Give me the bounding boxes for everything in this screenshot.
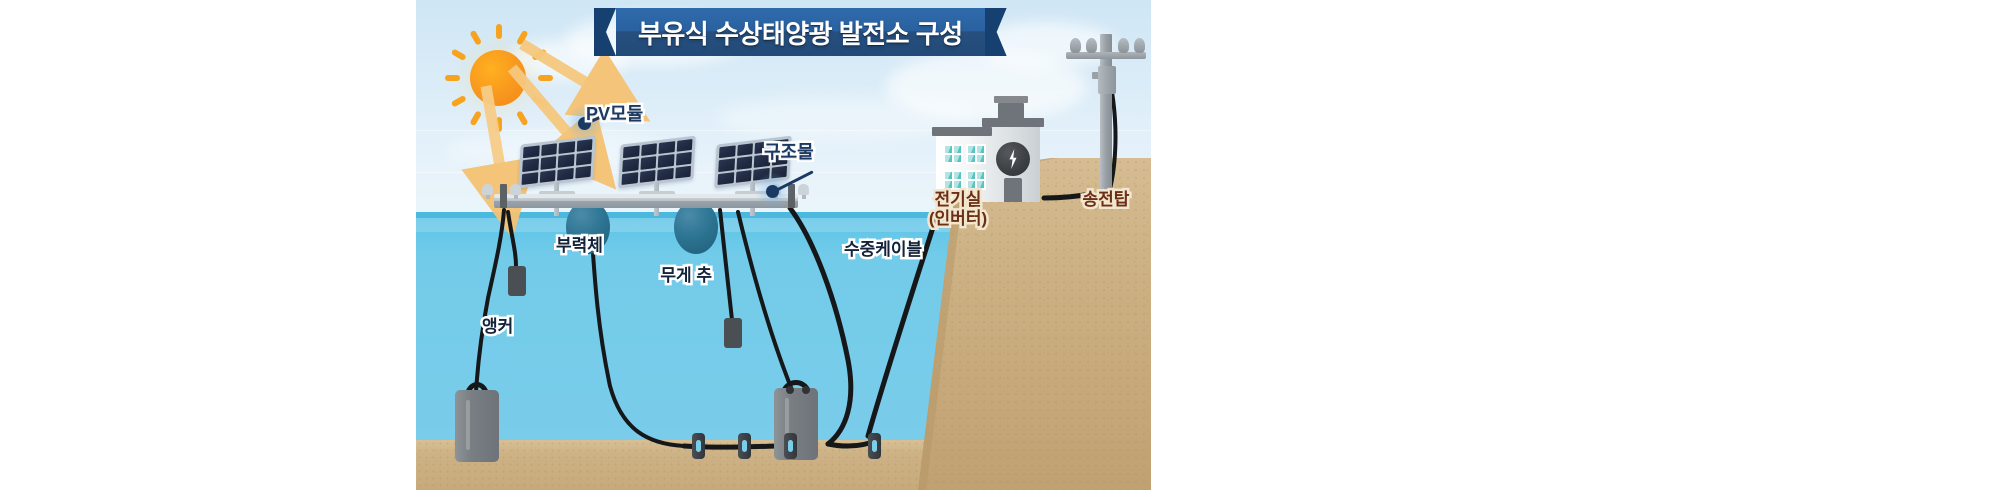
label-anchor: 앵커 [482, 317, 513, 336]
label-pv-module: PV모듈 [586, 104, 643, 124]
label-buoy: 부력체 [556, 236, 603, 255]
deck-bollard [510, 184, 521, 195]
anchor-bolt [802, 386, 810, 394]
cable-holddown-hole [872, 440, 877, 452]
solar-panel-icon [620, 140, 694, 184]
building-window-group [966, 170, 986, 190]
cable-holddown-hole [788, 440, 793, 452]
deck-bollard [482, 184, 493, 195]
anchor-bolt [786, 386, 794, 394]
building-window-group [943, 170, 963, 190]
deck-bollard [798, 184, 809, 195]
building-door [1004, 178, 1022, 202]
label-electrical-room: 전기실 (인버터) [918, 190, 998, 228]
anchor-block-icon [455, 390, 499, 462]
label-structure: 구조물 [764, 142, 814, 162]
sun-disc [470, 50, 526, 106]
label-transmission-tower: 송전탑 [1071, 190, 1141, 209]
pole-insulator [1118, 38, 1129, 53]
cable-holddown-hole [696, 440, 701, 452]
callout-dot-structure [766, 185, 779, 198]
title-ribbon-center: 부유식 수상태양광 발전소 구성 [616, 8, 985, 56]
building-roof [932, 127, 992, 136]
solar-panel-icon [520, 140, 594, 184]
page-title: 부유식 수상태양광 발전소 구성 [638, 14, 963, 51]
pole-mast [1100, 34, 1112, 202]
weight-block-icon [508, 266, 526, 296]
pole-insulator [1086, 38, 1097, 53]
buoy-sphere-icon [674, 200, 718, 254]
anchor-highlight [466, 400, 470, 450]
floating-structure-deck-top [494, 194, 798, 198]
building-tower-roof [982, 118, 1044, 127]
pole-insulator [1070, 38, 1081, 53]
infographic-stage: PV모듈 구조물 부력체 앵커 무게 추 수중케이블 전기실 (인버터) 송전탑… [0, 0, 2008, 490]
cable-holddown-hole [742, 440, 747, 452]
label-submarine-cable: 수중케이블 [844, 240, 922, 259]
transformer-box-icon [1098, 66, 1116, 94]
sun-icon [438, 18, 558, 138]
weight-block-icon [724, 318, 742, 348]
building-window-group [943, 144, 963, 164]
label-electrical-room-line2: (인버터) [918, 209, 998, 228]
building-window-group [966, 144, 986, 164]
deck-post [500, 184, 507, 208]
lightning-bolt-icon [996, 142, 1030, 176]
pole-crossarm [1066, 52, 1146, 59]
label-weight: 무게 추 [660, 266, 712, 285]
illustration-canvas: PV모듈 구조물 부력체 앵커 무게 추 수중케이블 전기실 (인버터) 송전탑… [416, 0, 1151, 490]
label-electrical-room-line1: 전기실 [918, 190, 998, 209]
title-ribbon: 부유식 수상태양광 발전소 구성 [594, 8, 1007, 56]
pole-insulator [1134, 38, 1145, 53]
building-cap [994, 96, 1028, 103]
